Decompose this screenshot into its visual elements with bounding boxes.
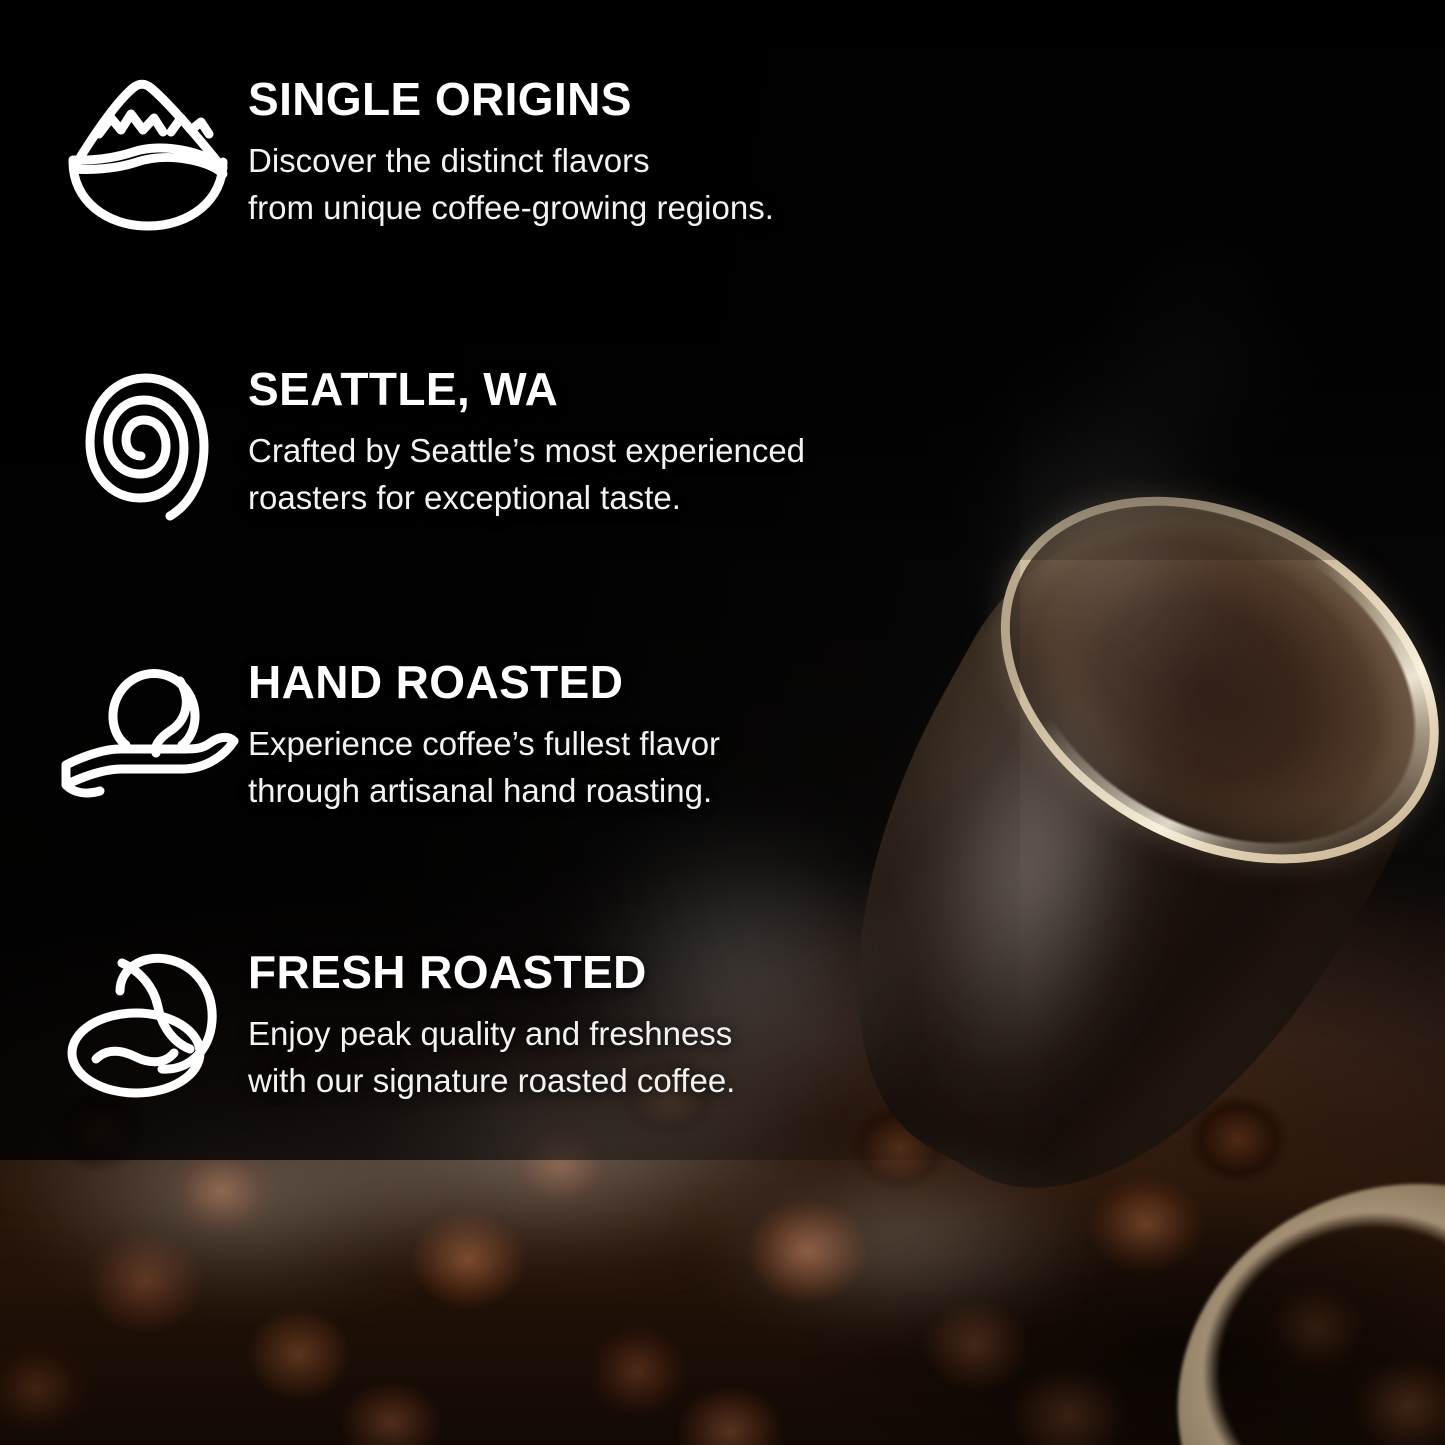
feature-title: HAND ROASTED [248, 659, 720, 705]
mountain-bean-icon [48, 72, 248, 234]
feature-text: FRESH ROASTED Enjoy peak quality and fre… [248, 945, 735, 1105]
two-beans-icon [48, 945, 248, 1105]
feature-list: SINGLE ORIGINS Discover the distinct fla… [0, 0, 1445, 1445]
feature-text: SINGLE ORIGINS Discover the distinct fla… [248, 72, 774, 232]
feature-text: SEATTLE, WA Crafted by Seattle’s most ex… [248, 362, 805, 522]
feature-title: SINGLE ORIGINS [248, 76, 774, 122]
feature-item-hand-roasted: HAND ROASTED Experience coffee’s fullest… [48, 655, 720, 815]
feature-description: Discover the distinct flavors from uniqu… [248, 138, 774, 232]
fingerprint-icon [48, 362, 248, 522]
feature-title: FRESH ROASTED [248, 949, 735, 995]
hand-holding-bean-icon [48, 655, 248, 809]
feature-title: SEATTLE, WA [248, 366, 805, 412]
feature-item-seattle-wa: SEATTLE, WA Crafted by Seattle’s most ex… [48, 362, 805, 522]
feature-text: HAND ROASTED Experience coffee’s fullest… [248, 655, 720, 815]
feature-item-fresh-roasted: FRESH ROASTED Enjoy peak quality and fre… [48, 945, 735, 1105]
feature-description: Enjoy peak quality and freshness with ou… [248, 1011, 735, 1105]
feature-description: Crafted by Seattle’s most experienced ro… [248, 428, 805, 522]
promo-panel: SINGLE ORIGINS Discover the distinct fla… [0, 0, 1445, 1445]
feature-description: Experience coffee’s fullest flavor throu… [248, 721, 720, 815]
feature-item-single-origins: SINGLE ORIGINS Discover the distinct fla… [48, 72, 774, 234]
